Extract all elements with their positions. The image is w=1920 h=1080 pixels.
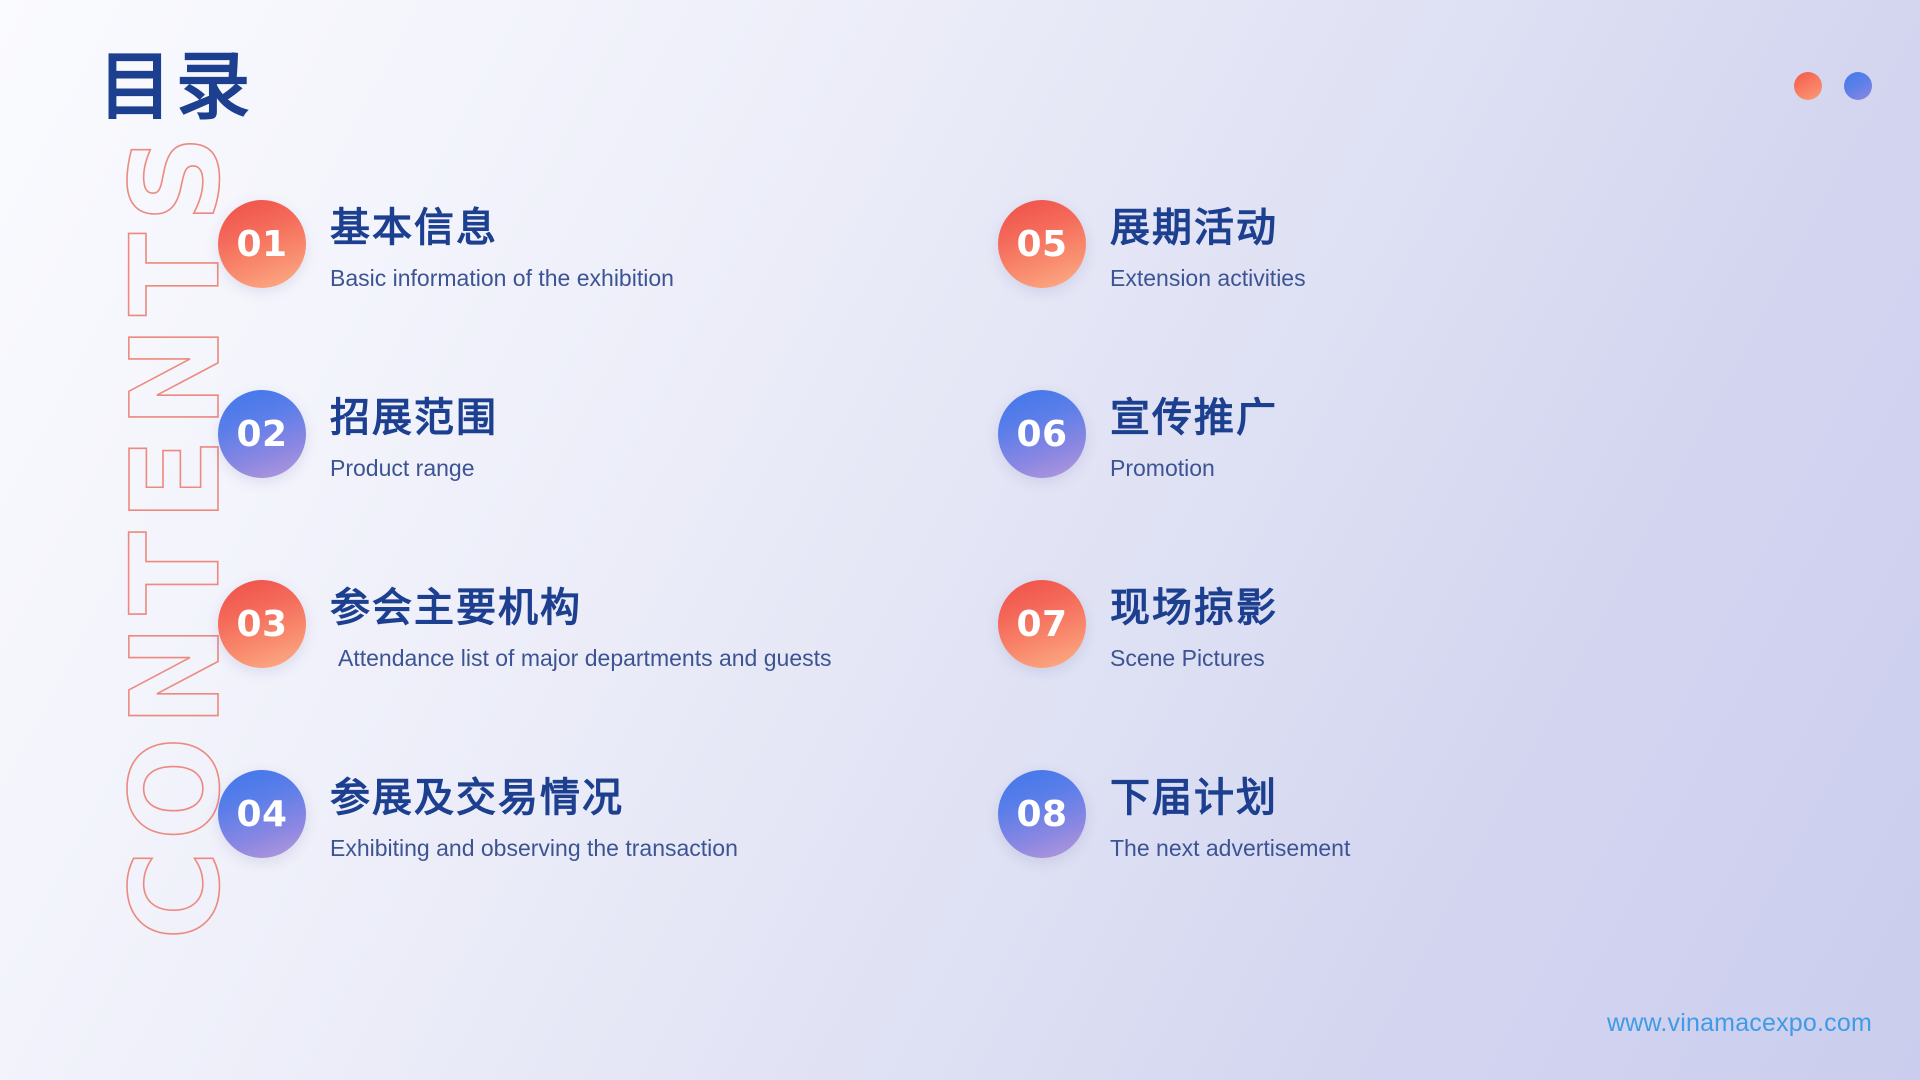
toc-item-01[interactable]: 01 基本信息 Basic information of the exhibit…	[218, 200, 998, 390]
toc-number-badge: 07	[998, 580, 1086, 668]
site-url-link[interactable]: www.vinamacexpo.com	[1607, 1009, 1872, 1038]
toc-title-cn: 参展及交易情况	[330, 776, 738, 821]
toc-title-en: Basic information of the exhibition	[330, 265, 674, 293]
toc-number-badge: 03	[218, 580, 306, 668]
toc-number-badge: 06	[998, 390, 1086, 478]
toc-number-badge: 02	[218, 390, 306, 478]
toc-number-badge: 04	[218, 770, 306, 858]
toc-number-badge: 08	[998, 770, 1086, 858]
toc-title-cn: 宣传推广	[1110, 396, 1278, 441]
toc-title-en: Scene Pictures	[1110, 645, 1278, 673]
toc-title-en: Extension activities	[1110, 265, 1306, 293]
toc-number-badge: 05	[998, 200, 1086, 288]
circle-dot-cool-icon	[1844, 72, 1872, 100]
toc-title-cn: 展期活动	[1110, 206, 1306, 251]
toc-title-en: Promotion	[1110, 455, 1278, 483]
toc-item-05[interactable]: 05 展期活动 Extension activities	[998, 200, 1778, 390]
page-title: 目录	[98, 50, 254, 124]
toc-number-badge: 01	[218, 200, 306, 288]
toc-item-06[interactable]: 06 宣传推广 Promotion	[998, 390, 1778, 580]
contents-grid: 01 基本信息 Basic information of the exhibit…	[218, 200, 1778, 960]
toc-item-03[interactable]: 03 参会主要机构 Attendance list of major depar…	[218, 580, 998, 770]
toc-title-cn: 参会主要机构	[330, 586, 832, 631]
decorative-dots	[1794, 72, 1872, 100]
slide-canvas: 目录 CONTENTS 01 基本信息 Basic information of…	[0, 0, 1920, 1080]
toc-title-cn: 招展范围	[330, 396, 498, 441]
toc-item-07[interactable]: 07 现场掠影 Scene Pictures	[998, 580, 1778, 770]
toc-item-04[interactable]: 04 参展及交易情况 Exhibiting and observing the …	[218, 770, 998, 960]
toc-item-08[interactable]: 08 下届计划 The next advertisement	[998, 770, 1778, 960]
toc-title-cn: 下届计划	[1110, 776, 1350, 821]
toc-title-cn: 现场掠影	[1110, 586, 1278, 631]
toc-title-en: Attendance list of major departments and…	[330, 645, 832, 673]
toc-title-en: Product range	[330, 455, 498, 483]
toc-title-en: The next advertisement	[1110, 835, 1350, 863]
toc-item-02[interactable]: 02 招展范围 Product range	[218, 390, 998, 580]
toc-title-cn: 基本信息	[330, 206, 674, 251]
circle-dot-warm-icon	[1794, 72, 1822, 100]
toc-title-en: Exhibiting and observing the transaction	[330, 835, 738, 863]
